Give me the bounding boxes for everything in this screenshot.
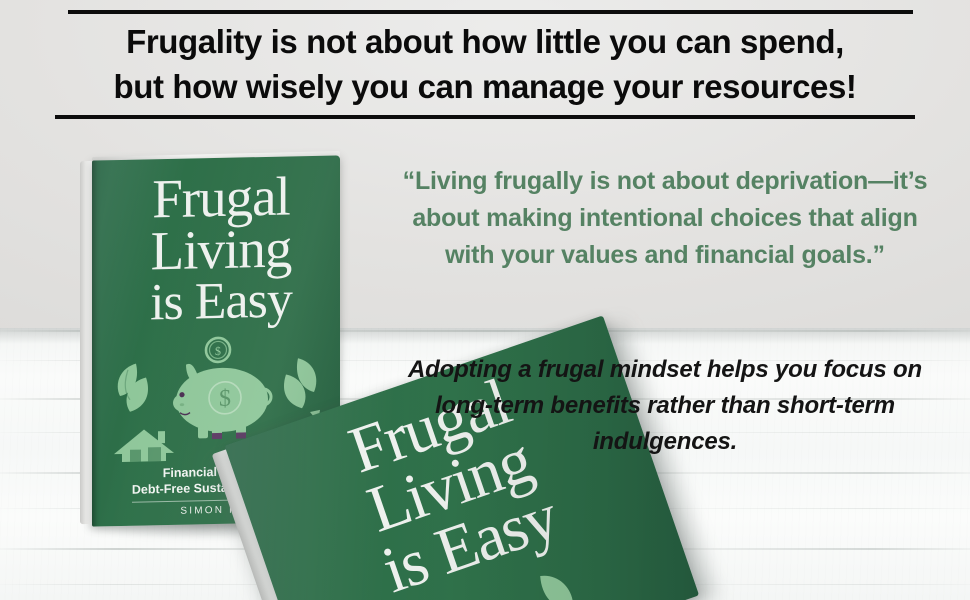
leaf-icon-right (284, 358, 316, 409)
page-title: Frugality is not about how little you ca… (0, 14, 970, 115)
headline-bottom-rule (55, 115, 915, 119)
coin-icon: $ (206, 338, 230, 363)
poster-canvas: Frugality is not about how little you ca… (0, 0, 970, 600)
headline-banner: Frugality is not about how little you ca… (0, 10, 970, 119)
svg-text:$: $ (215, 344, 221, 358)
supporting-text: Adopting a frugal mindset helps you focu… (400, 352, 930, 460)
book-spine-shading (92, 160, 101, 526)
svg-text:$: $ (219, 386, 231, 412)
pull-quote: “Living frugally is not about deprivatio… (395, 163, 935, 274)
book-title-line-3: is Easy (102, 273, 340, 330)
book-title: Frugal Living is Easy (92, 169, 340, 330)
house-icon (114, 429, 174, 462)
piggy-bank-icon: $ (173, 362, 271, 440)
book-title-line-1: Frugal (102, 169, 340, 226)
book-title-line-2: Living (102, 221, 340, 278)
leaf-icon-left (118, 363, 148, 412)
